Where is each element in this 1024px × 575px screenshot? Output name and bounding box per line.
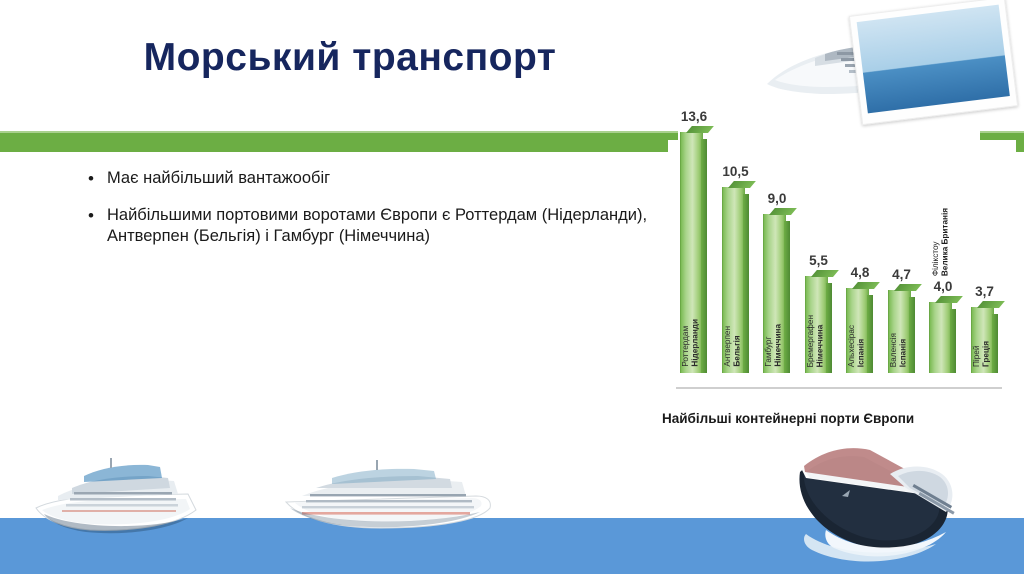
- chart-bar-side: [950, 309, 956, 373]
- list-item: • Найбільшими портовими воротами Європи …: [80, 205, 660, 247]
- bar-chart: 13,6РоттердамНідерланди10,5АнтверпенБель…: [668, 140, 1016, 402]
- chart-bar: 3,7ПірейГреція: [971, 307, 998, 373]
- chart-bar-side: [826, 283, 832, 373]
- chart-bar-country: Німеччина: [774, 324, 784, 367]
- bullet-marker-icon: •: [88, 168, 94, 189]
- chart-bar-value: 4,7: [882, 267, 922, 282]
- chart-bar-top: [977, 301, 1005, 308]
- chart-plot-area: 13,6РоттердамНідерланди10,5АнтверпенБель…: [674, 140, 1012, 388]
- chart-bar-country: Велика Британія: [941, 208, 951, 276]
- chart-bar-country: Іспанія: [857, 325, 867, 367]
- chart-bar-side: [909, 297, 915, 373]
- chart-bar: 9,0ГамбургНімеччина: [763, 214, 790, 373]
- chart-bar-label: АльхесірасІспанія: [847, 325, 867, 367]
- chart-bar-label: ПірейГреція: [972, 341, 992, 367]
- chart-bar-top: [811, 270, 839, 277]
- chart-bar-value: 4,8: [840, 265, 880, 280]
- chart-bar-value: 5,5: [799, 253, 839, 268]
- page-title: Морський транспорт: [0, 36, 700, 80]
- chart-baseline-axis: [676, 387, 1002, 389]
- chart-bar-value: 4,0: [923, 279, 963, 294]
- chart-bar-top: [852, 282, 880, 289]
- list-item: • Має найбільший вантажообіг: [80, 168, 660, 189]
- chart-bar-city: Роттердам: [681, 319, 691, 367]
- chart-bar-label: ФілікстоуВелика Британія: [931, 208, 951, 276]
- chart-bar: 4,8АльхесірасІспанія: [846, 288, 873, 373]
- chart-bar-label: АнтверпенБельгія: [723, 326, 743, 367]
- chart-bar-value: 13,6: [674, 109, 714, 124]
- chart-bar-value: 9,0: [757, 191, 797, 206]
- chart-bar-city: Альхесірас: [847, 325, 857, 367]
- chart-bar-top: [894, 284, 922, 291]
- ocean-liner-dark-hull-image: [786, 436, 996, 570]
- bullet-text: Найбільшими портовими воротами Європи є …: [107, 206, 647, 245]
- chart-bar: 13,6РоттердамНідерланди: [680, 132, 707, 373]
- divider-band-left: [0, 133, 678, 152]
- bullet-text: Має найбільший вантажообіг: [107, 169, 330, 187]
- chart-bar-face: [929, 302, 952, 373]
- chart-bar-label: РоттердамНідерланди: [681, 319, 701, 367]
- chart-bar-country: Німеччина: [815, 315, 825, 367]
- chart-bar-city: Гамбург: [764, 324, 774, 367]
- photo-frame: [849, 0, 1018, 125]
- chart-bar-top: [686, 126, 714, 133]
- chart-bar-top: [769, 208, 797, 215]
- chart-bar-value: 10,5: [716, 164, 756, 179]
- chart-bar-side: [867, 295, 873, 373]
- chart-bar-side: [701, 139, 707, 373]
- chart-bar-value: 3,7: [965, 284, 1005, 299]
- chart-bar: 10,5АнтверпенБельгія: [722, 187, 749, 373]
- chart-caption: Найбільші контейнерні порти Європи: [662, 411, 914, 426]
- chart-bar-top: [728, 181, 756, 188]
- bullet-list: • Має найбільший вантажообіг • Найбільши…: [80, 168, 660, 263]
- bullet-marker-icon: •: [88, 205, 94, 226]
- chart-bar-country: Іспанія: [898, 333, 908, 367]
- chart-bar-top: [935, 296, 963, 303]
- chart-bar-country: Греція: [981, 341, 991, 367]
- chart-bar-city: Пірей: [972, 341, 982, 367]
- chart-bar: 4,7ВаленсіяІспанія: [888, 290, 915, 373]
- chart-bar-label: БремергафенНімеччина: [806, 315, 826, 367]
- chart-bar-side: [992, 314, 998, 373]
- chart-bar-side: [784, 221, 790, 373]
- chart-bar-city: Антверпен: [723, 326, 733, 367]
- cruise-ship-white-image: [28, 452, 214, 538]
- chart-bar-country: Нідерланди: [691, 319, 701, 367]
- chart-bar-label: ГамбургНімеччина: [764, 324, 784, 367]
- chart-bar: 5,5БремергафенНімеччина: [805, 276, 832, 373]
- photo-inner-sea: [857, 5, 1010, 114]
- slide: Морський транспорт: [0, 0, 1024, 574]
- cruise-ship-large-image: [280, 458, 496, 534]
- chart-bar-country: Бельгія: [732, 326, 742, 367]
- chart-bar-label: ВаленсіяІспанія: [889, 333, 909, 367]
- chart-bar-side: [743, 194, 749, 373]
- chart-bar: 4,0ФілікстоуВелика Британія: [929, 302, 956, 373]
- chart-bar-city: Філікстоу: [931, 208, 941, 276]
- chart-bar-city: Бремергафен: [806, 315, 816, 367]
- chart-bar-city: Валенсія: [889, 333, 899, 367]
